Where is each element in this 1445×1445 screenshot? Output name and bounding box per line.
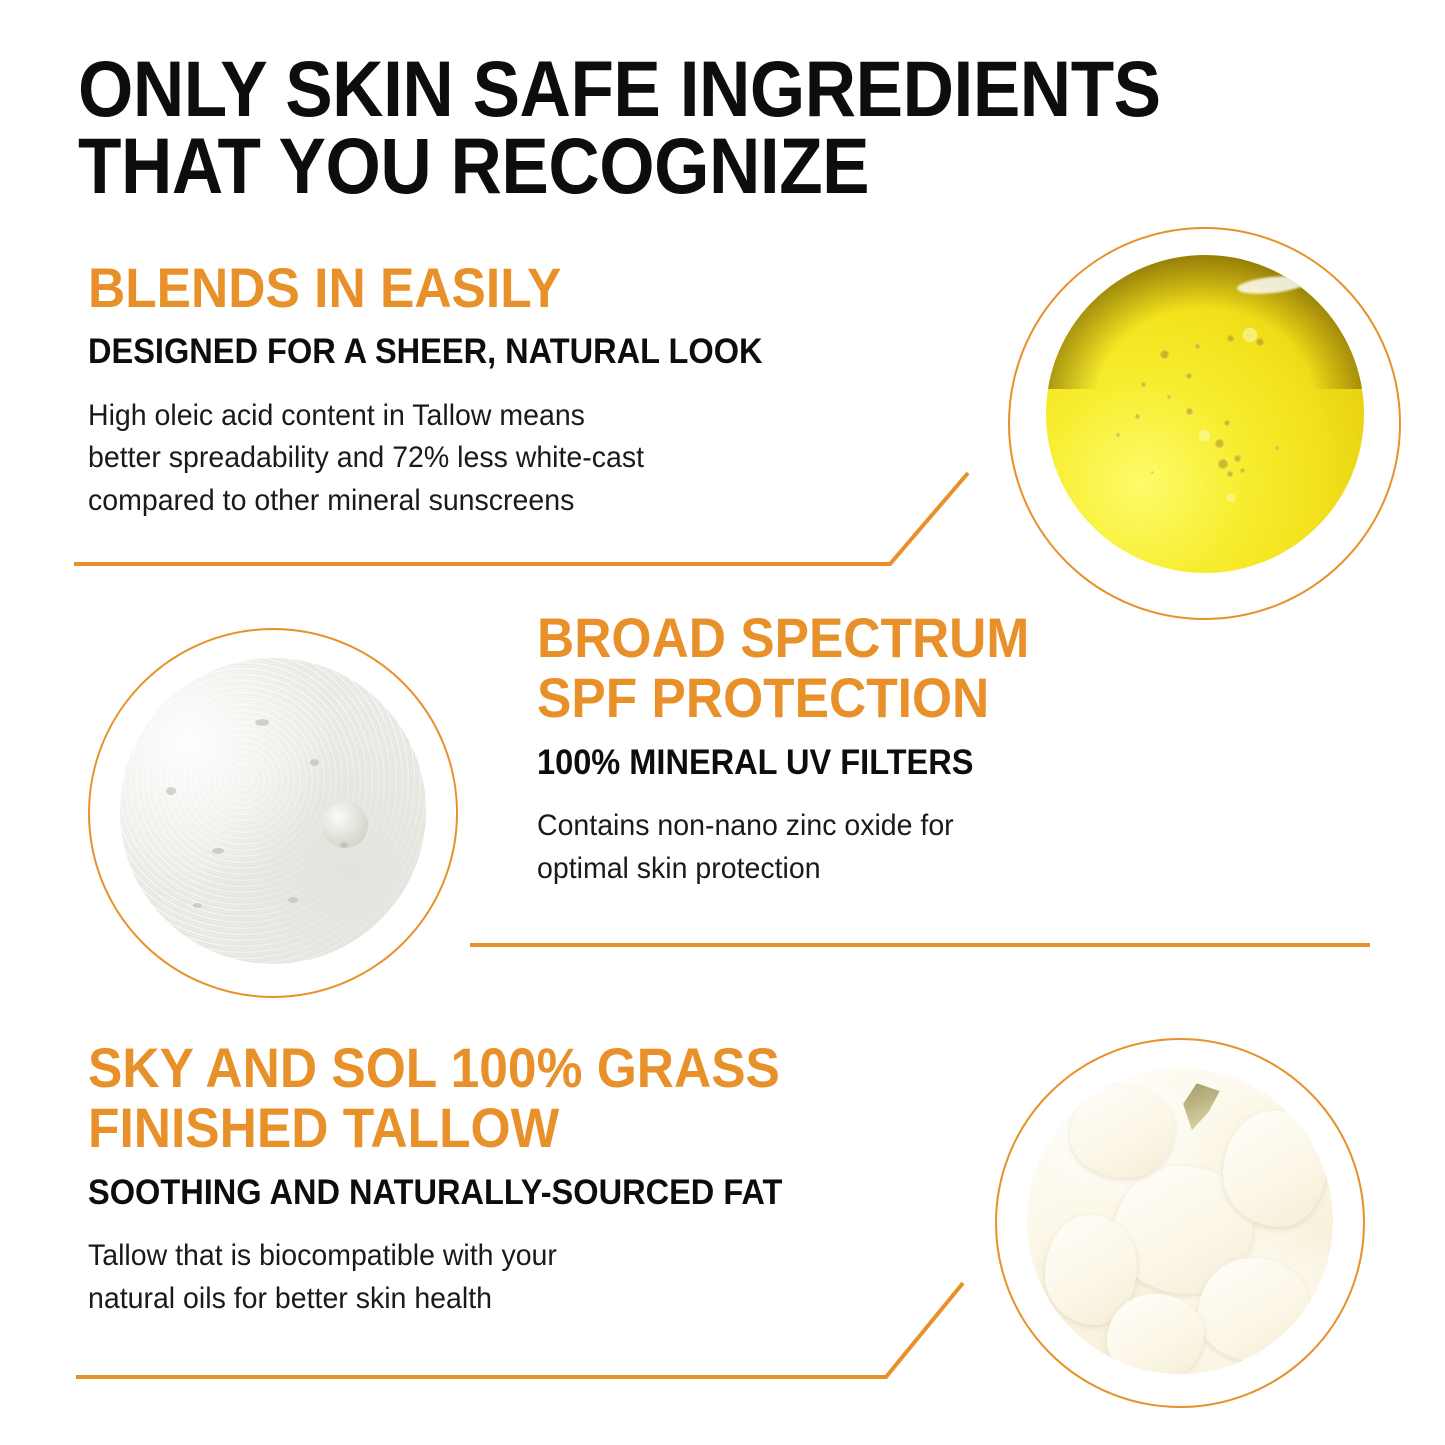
infographic-page: ONLY SKIN SAFE INGREDIENTS THAT YOU RECO… [0, 0, 1445, 1445]
connector-line-section-3 [0, 0, 1445, 1445]
